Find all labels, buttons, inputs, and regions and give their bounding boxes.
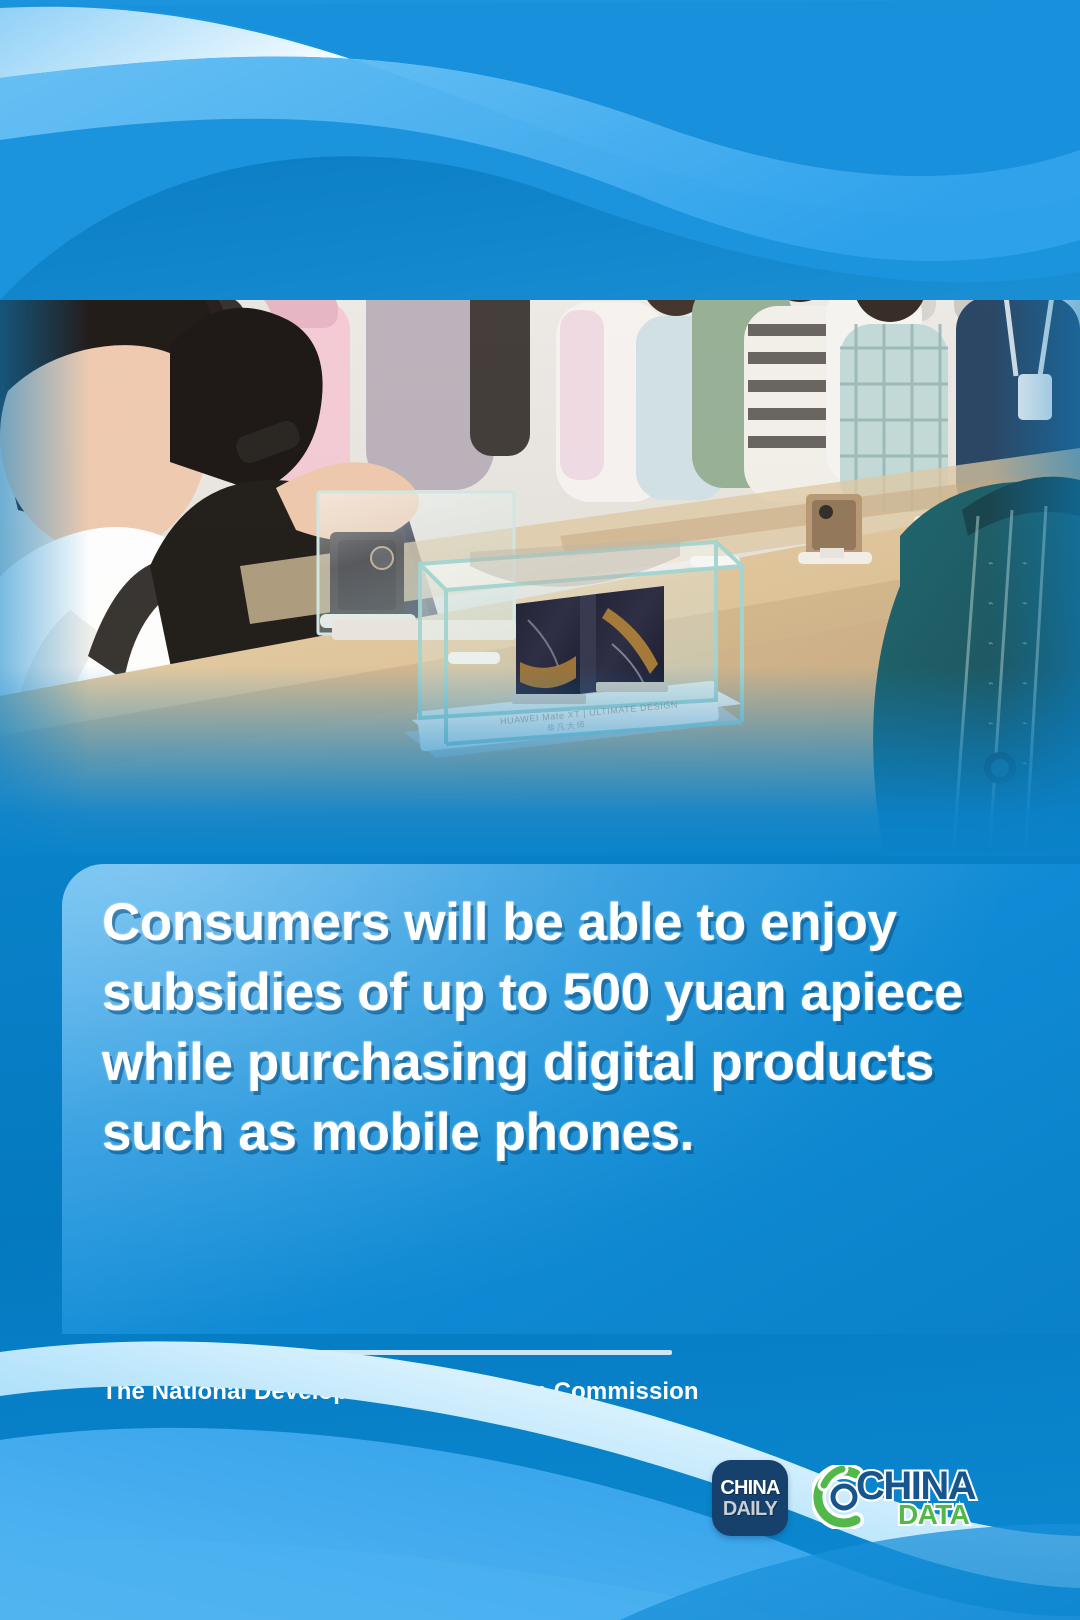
- headline-text: Consumers will be able to enjoy subsidie…: [102, 888, 962, 1168]
- source-divider: [102, 1350, 672, 1355]
- china-daily-line2: DAILY: [723, 1499, 777, 1519]
- headline-line-4: such as mobile phones.: [102, 1098, 962, 1168]
- headline-line-1: Consumers will be able to enjoy: [102, 888, 962, 958]
- china-daily-logo[interactable]: CHINA DAILY: [712, 1460, 788, 1536]
- poster-root: HUAWEI Mate XT | ULTIMATE DESIGN 非凡大师 ⌁⌁…: [0, 0, 1080, 1620]
- china-data-logo[interactable]: CHINA DATA: [812, 1461, 996, 1535]
- source-label: The National Development and Reform Comm…: [102, 1378, 699, 1406]
- quote-card: Consumers will be able to enjoy subsidie…: [62, 864, 1080, 1334]
- china-data-word2: DATA: [898, 1501, 969, 1529]
- headline-line-3: while purchasing digital products: [102, 1028, 962, 1098]
- china-daily-line1: CHINA: [720, 1478, 779, 1498]
- photo-top-fade: [0, 96, 1080, 216]
- logo-row: CHINA DAILY CHINA DATA: [712, 1448, 1012, 1548]
- hero-photo: HUAWEI Mate XT | ULTIMATE DESIGN 非凡大师 ⌁⌁…: [0, 96, 1080, 856]
- photo-bottom-fade: [0, 666, 1080, 856]
- headline-line-2: subsidies of up to 500 yuan apiece: [102, 958, 962, 1028]
